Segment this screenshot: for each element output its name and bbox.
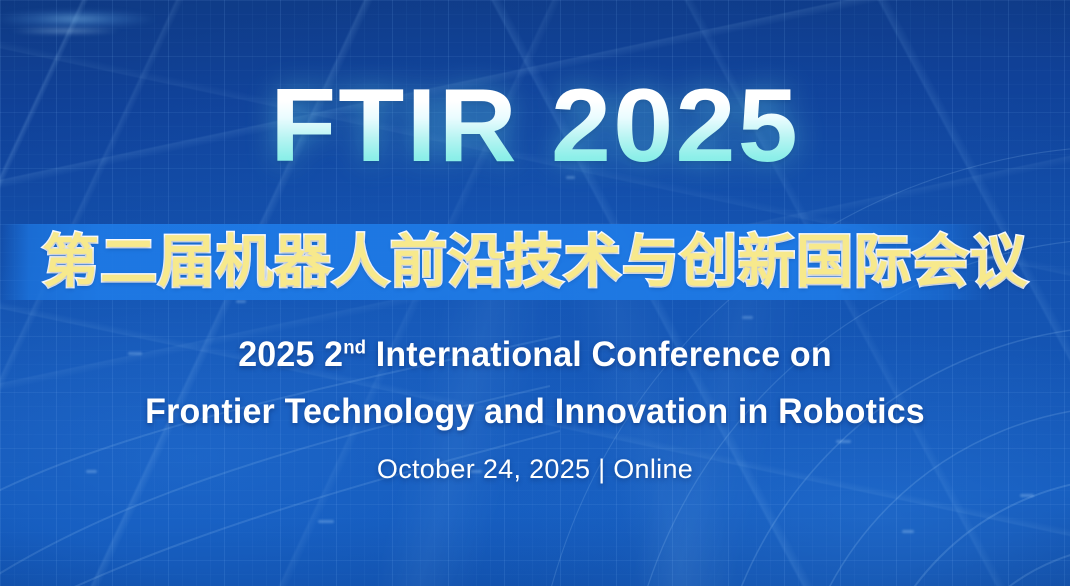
english-title-line-1: 2025 2nd International Conference on bbox=[16, 326, 1054, 383]
conference-acronym-title: FTIR 2025 bbox=[0, 74, 1070, 178]
conference-date-and-location: October 24, 2025 | Online bbox=[0, 452, 1070, 486]
conference-banner: FTIR 2025 第二届机器人前沿技术与创新国际会议 2025 2nd Int… bbox=[0, 0, 1070, 586]
english-title-ordinal-suffix: nd bbox=[343, 337, 366, 358]
conference-english-title: 2025 2nd International Conference on Fro… bbox=[16, 326, 1054, 440]
conference-chinese-title: 第二届机器人前沿技术与创新国际会议 bbox=[0, 231, 1070, 293]
english-title-line-1-suffix: International Conference on bbox=[366, 335, 832, 374]
banner-content: FTIR 2025 第二届机器人前沿技术与创新国际会议 2025 2nd Int… bbox=[0, 0, 1070, 586]
english-title-line-1-prefix: 2025 2 bbox=[238, 335, 343, 374]
english-title-line-2: Frontier Technology and Innovation in Ro… bbox=[16, 383, 1054, 440]
